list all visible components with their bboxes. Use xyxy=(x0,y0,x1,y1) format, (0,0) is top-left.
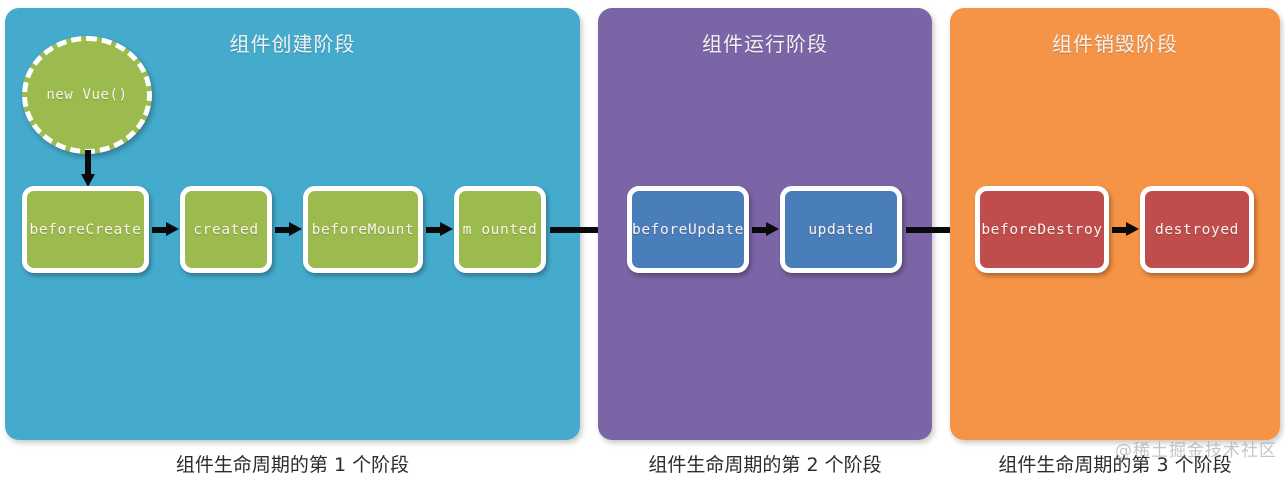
hook-box-updated: updated xyxy=(780,186,902,273)
arrow-head-icon xyxy=(440,222,453,236)
phase-title-destroy: 组件销毁阶段 xyxy=(950,28,1280,57)
vue-lifecycle-diagram: 组件创建阶段 new Vue() beforeCreate created be… xyxy=(0,0,1285,479)
arrow-shaft xyxy=(752,227,767,233)
hook-label-created: created xyxy=(193,222,258,238)
hook-box-destroyed: destroyed xyxy=(1140,186,1254,273)
arrow-shaft xyxy=(85,150,91,176)
hook-box-mounted: m ounted xyxy=(454,186,546,273)
arrow-beforecreate-to-created xyxy=(152,225,179,234)
hook-box-beforemount: beforeMount xyxy=(303,186,423,273)
phase-caption-create: 组件生命周期的第 1 个阶段 xyxy=(5,450,580,477)
hook-box-beforeupdate: beforeUpdate xyxy=(627,186,749,273)
hook-label-updated: updated xyxy=(808,222,873,238)
hook-label-beforeupdate: beforeUpdate xyxy=(632,222,744,238)
hook-label-beforedestroy: beforeDestroy xyxy=(981,222,1102,238)
arrow-shaft xyxy=(275,227,290,233)
arrow-beforemount-to-mounted xyxy=(426,225,453,234)
arrow-created-to-beforemount xyxy=(275,225,302,234)
watermark-text: @稀土掘金技术社区 xyxy=(1115,436,1277,461)
new-vue-node: new Vue() xyxy=(22,36,152,154)
phase-caption-run: 组件生命周期的第 2 个阶段 xyxy=(598,450,932,477)
arrow-shaft xyxy=(152,227,167,233)
arrow-shaft xyxy=(426,227,441,233)
hook-label-beforemount: beforeMount xyxy=(312,222,415,238)
arrow-beforeupdate-to-updated xyxy=(752,225,779,234)
hook-box-created: created xyxy=(180,186,272,273)
new-vue-label: new Vue() xyxy=(46,87,127,103)
arrow-beforedestroy-to-destroyed xyxy=(1112,225,1139,234)
arrow-shaft xyxy=(1112,227,1127,233)
phase-title-run: 组件运行阶段 xyxy=(598,28,932,57)
arrow-head-icon xyxy=(166,222,179,236)
arrow-head-icon xyxy=(289,222,302,236)
arrow-head-icon xyxy=(766,222,779,236)
hook-label-mounted: m ounted xyxy=(463,222,538,238)
arrow-new-vue-to-beforecreate xyxy=(84,150,93,188)
hook-box-beforecreate: beforeCreate xyxy=(22,186,149,273)
hook-label-destroyed: destroyed xyxy=(1155,222,1239,238)
arrow-head-icon xyxy=(1126,222,1139,236)
hook-label-beforecreate: beforeCreate xyxy=(30,222,142,238)
hook-box-beforedestroy: beforeDestroy xyxy=(975,186,1109,273)
